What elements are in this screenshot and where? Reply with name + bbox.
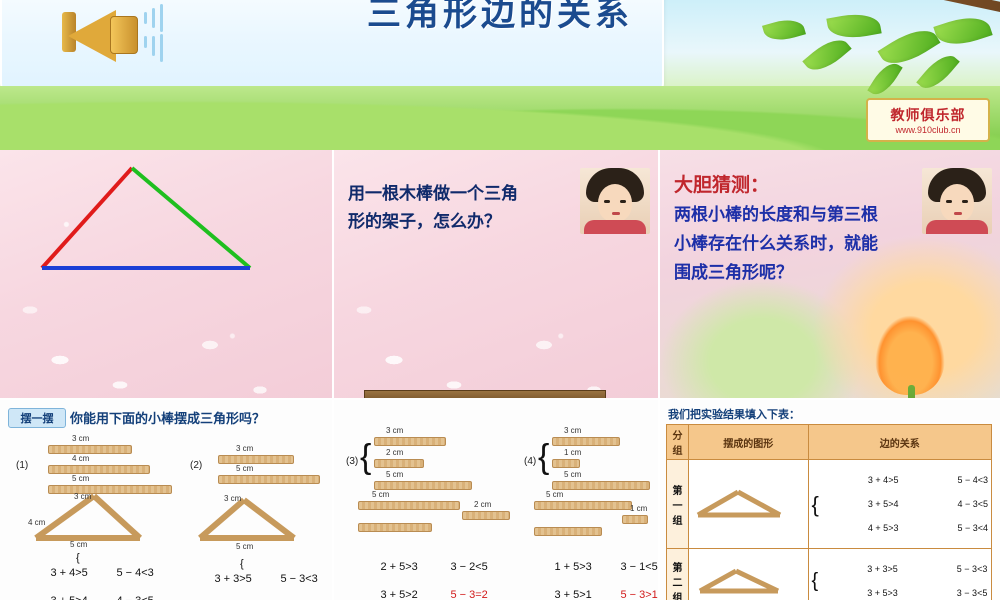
- relation-item: 4 + 5>3: [868, 523, 899, 533]
- relation-right: 5 − 4<3 4 − 3<5 5 − 3<4: [912, 462, 988, 546]
- panel-triangle-definition: 像这样由三条线段首尾相接围成 的图形叫三角形。: [0, 150, 334, 400]
- row-figure: [689, 460, 809, 549]
- tri-label: 5 cm: [236, 542, 253, 551]
- table-row: 第二组 { 3 + 3>5: [667, 549, 992, 600]
- stick-label: 3 cm: [72, 434, 89, 443]
- stick: [48, 445, 132, 454]
- stick-label: 3 cm: [236, 444, 253, 453]
- stick: [374, 437, 446, 446]
- logo-subtitle: www.910club.cn: [895, 125, 960, 135]
- stick-label: 5 cm: [564, 470, 581, 479]
- stick: [552, 481, 650, 490]
- stick: [374, 459, 424, 468]
- stick-label: 1 cm: [630, 504, 647, 513]
- slide-page: 三角形边的关系 教师俱乐部 www.910club.cn 像这样由三条线段首尾相…: [0, 0, 1000, 600]
- equation: 2 + 5>3: [380, 561, 417, 573]
- equation-list-4-right: 3 − 1<5 5 − 3>1 5 − 1>3: [596, 546, 658, 600]
- table-header-group: 分组: [667, 425, 689, 460]
- stick: [48, 465, 150, 474]
- equation: 3 − 2<5: [450, 561, 487, 573]
- group-number: (1): [16, 460, 28, 471]
- equation: 1 + 5>3: [554, 561, 591, 573]
- panel-question: 用一根木棒做一个三角 形的架子，怎么办？: [334, 150, 660, 400]
- content-row-bottom: 摆一摆 你能用下面的小棒摆成三角形吗？ 3 cm 4 cm 5 cm (1) (…: [0, 400, 1000, 600]
- activity-tag: 摆一摆: [8, 408, 66, 428]
- guess-line3: 围成三角形呢？: [674, 263, 793, 282]
- equation: 3 + 5>1: [554, 589, 591, 600]
- equation: 3 − 1<5: [620, 561, 657, 573]
- slide-banner: 三角形边的关系 教师俱乐部 www.910club.cn: [0, 0, 1000, 150]
- panel-activity-1: 摆一摆 你能用下面的小棒摆成三角形吗？ 3 cm 4 cm 5 cm (1) (…: [0, 400, 334, 600]
- stick: [622, 515, 648, 524]
- row-relation: { 3 + 4>5 3 + 5>4 4 + 5>3 5 − 4<3 4 − 3<…: [808, 460, 991, 549]
- relation-item: 4 − 3<5: [957, 499, 988, 509]
- tri-label: 3 cm: [74, 492, 91, 501]
- row-relation: { 3 + 3>5 3 + 5>3 5 − 3<3 3 − 3<5: [808, 549, 991, 600]
- stick: [218, 455, 294, 464]
- equation: 3 + 3>5: [214, 573, 251, 585]
- tulip-decoration: [875, 315, 945, 395]
- stick-label: 3 cm: [564, 426, 581, 435]
- panel-activity-2: (3) { 3 cm 2 cm 5 cm (4) { 3 cm 1 cm 5 c…: [334, 400, 660, 600]
- tri-label: 5 cm: [70, 540, 87, 549]
- row-group-label: 第一组: [667, 460, 689, 549]
- equation: 3 + 5>4: [50, 595, 87, 600]
- relation-item: 3 + 5>4: [868, 499, 899, 509]
- stick: [552, 459, 580, 468]
- guess-line2: 小棒存在什么关系时，就能: [674, 234, 878, 253]
- stick-label: 2 cm: [386, 448, 403, 457]
- stick-label: 5 cm: [372, 490, 389, 499]
- row-group-label: 第二组: [667, 549, 689, 600]
- relation-item: 3 − 3<5: [957, 588, 988, 598]
- question-line2: 形的架子，怎么办？: [348, 212, 501, 231]
- panel-results-table: 我们把实验结果填入下表： 分组 摆成的图形 边的关系 第一组: [660, 400, 1000, 600]
- table-row: 第一组 { 3 + 4>5: [667, 460, 992, 549]
- equation-list-left-2: 5 − 4<3 4 − 3<5 5 − 3<4: [92, 552, 154, 600]
- panel-guess: 大胆猜测： 两根小棒的长度和与第三根 小棒存在什么关系时，就能 围成三角形呢？: [660, 150, 1000, 400]
- wooden-stick-figure: [364, 390, 606, 400]
- question-text: 用一根木棒做一个三角 形的架子，怎么办？: [348, 180, 588, 236]
- question-line1: 用一根木棒做一个三角: [348, 184, 518, 203]
- avatar-teacher-2: [922, 168, 992, 234]
- avatar-teacher: [580, 168, 650, 234]
- stick-label: 1 cm: [564, 448, 581, 457]
- relation-item: 5 − 4<3: [957, 475, 988, 485]
- stick: [374, 481, 472, 490]
- page-title: 三角形边的关系: [0, 0, 1000, 35]
- table-header-relation: 边的关系: [808, 425, 991, 460]
- group-number: (4): [524, 456, 536, 467]
- guess-line1: 两根小棒的长度和与第三根: [674, 205, 878, 224]
- equation-list-4-left: 1 + 5>3 3 + 5>1 1 + 3<5: [530, 546, 592, 600]
- guess-title: 大胆猜测：: [674, 170, 769, 197]
- stick: [358, 501, 460, 510]
- stick: [462, 511, 510, 520]
- guess-body: 两根小棒的长度和与第三根 小棒存在什么关系时，就能 围成三角形呢？: [674, 200, 924, 287]
- stick: [218, 475, 320, 484]
- stick-label: 5 cm: [236, 464, 253, 473]
- equation-list-right-2: 5 − 3<3 3 − 3<5: [256, 558, 318, 600]
- stick: [552, 437, 620, 446]
- table-header-figure: 摆成的图形: [689, 425, 809, 460]
- stick: [358, 523, 432, 532]
- row-figure: [689, 549, 809, 600]
- relation-left: 3 + 3>5 3 + 5>3: [822, 551, 898, 600]
- relation-right: 5 − 3<3 3 − 3<5: [912, 551, 988, 600]
- logo-badge: 教师俱乐部 www.910club.cn: [866, 98, 990, 142]
- equation-red: 5 − 3>1: [620, 589, 657, 600]
- stick: [534, 501, 632, 510]
- tulip-stem-decoration: [908, 385, 915, 400]
- experiment-table: 分组 摆成的图形 边的关系 第一组: [666, 424, 992, 600]
- group-number: (2): [190, 460, 202, 471]
- equation-red: 5 − 3=2: [450, 589, 487, 600]
- stick-label: 4 cm: [72, 454, 89, 463]
- tri-label: 4 cm: [28, 518, 45, 527]
- relation-left: 3 + 4>5 3 + 5>4 4 + 5>3: [823, 462, 899, 546]
- stick-label: 3 cm: [386, 426, 403, 435]
- stick-label: 2 cm: [474, 500, 491, 509]
- content-row-top: 像这样由三条线段首尾相接围成 的图形叫三角形。 用一根木棒做一个三角 形的架子，…: [0, 150, 1000, 400]
- table-header-row: 分组 摆成的图形 边的关系: [667, 425, 992, 460]
- equation: 3 + 5>2: [380, 589, 417, 600]
- relation-item: 5 − 3<4: [957, 523, 988, 533]
- equation-list-3-right: 3 − 2<5 5 − 3=2 5 − 2=3: [426, 546, 488, 600]
- stick: [534, 527, 602, 536]
- activity-question: 你能用下面的小棒摆成三角形吗？: [70, 408, 265, 427]
- relation-item: 3 + 5>3: [867, 588, 898, 598]
- logo-title: 教师俱乐部: [891, 105, 966, 125]
- table-title: 我们把实验结果填入下表：: [668, 406, 800, 422]
- tri-label: 3 cm: [224, 494, 241, 503]
- relation-item: 3 + 4>5: [868, 475, 899, 485]
- equation: 4 − 3<5: [116, 595, 153, 600]
- equation: 5 − 4<3: [116, 567, 153, 579]
- triangle-figure-row2: [692, 565, 788, 595]
- relation-item: 5 − 3<3: [957, 564, 988, 574]
- equation: 3 + 4>5: [50, 567, 87, 579]
- equation: 5 − 3<3: [280, 573, 317, 585]
- triangle-figure-row1: [692, 487, 788, 519]
- group-number: (3): [346, 456, 358, 467]
- triangle-figure-3-3-5: [190, 492, 310, 544]
- relation-item: 3 + 3>5: [867, 564, 898, 574]
- stick-label: 5 cm: [546, 490, 563, 499]
- stick-label: 5 cm: [72, 474, 89, 483]
- triangle-figure: [22, 160, 312, 280]
- equation-list-3-left: 2 + 5>3 3 + 5>2 2 + 3=5: [356, 546, 418, 600]
- stick-label: 5 cm: [386, 470, 403, 479]
